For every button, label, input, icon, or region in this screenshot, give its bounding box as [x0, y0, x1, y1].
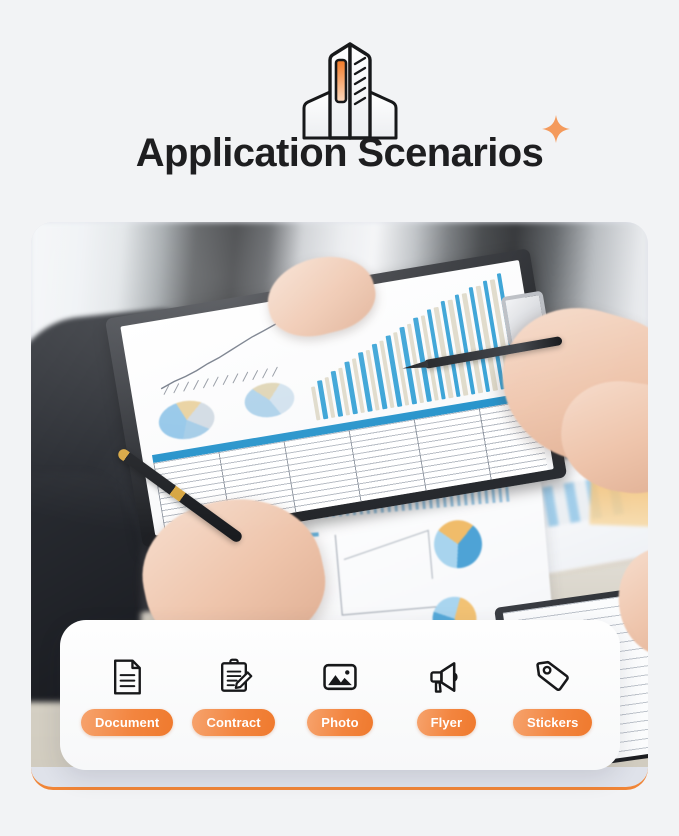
megaphone-icon: [426, 655, 466, 699]
category-badge-photo[interactable]: Photo: [307, 709, 372, 736]
report-pie-chart-2: [242, 379, 297, 421]
category-badge-stickers[interactable]: Stickers: [513, 709, 592, 736]
category-card: Document Contract: [60, 620, 620, 770]
desk-paper-line-chart: [335, 526, 448, 616]
category-item-stickers[interactable]: Stickers: [501, 655, 605, 736]
sparkle-star-icon: [541, 114, 571, 144]
category-item-flyer[interactable]: Flyer: [394, 655, 498, 736]
contract-clipboard-pen-icon: [214, 655, 254, 699]
category-item-document[interactable]: Document: [75, 655, 179, 736]
document-icon: [107, 655, 147, 699]
photo-image-icon: [320, 655, 360, 699]
category-item-photo[interactable]: Photo: [288, 655, 392, 736]
category-item-contract[interactable]: Contract: [182, 655, 286, 736]
category-badge-document[interactable]: Document: [81, 709, 173, 736]
report-pie-chart-1: [156, 397, 218, 444]
category-badge-contract[interactable]: Contract: [192, 709, 274, 736]
office-building-icon: [296, 42, 404, 142]
page-header: Application Scenarios: [0, 0, 679, 200]
page-title-row: Application Scenarios: [0, 128, 679, 178]
category-badge-flyer[interactable]: Flyer: [417, 709, 477, 736]
price-tag-icon: [533, 655, 573, 699]
page-title: Application Scenarios: [136, 131, 544, 175]
